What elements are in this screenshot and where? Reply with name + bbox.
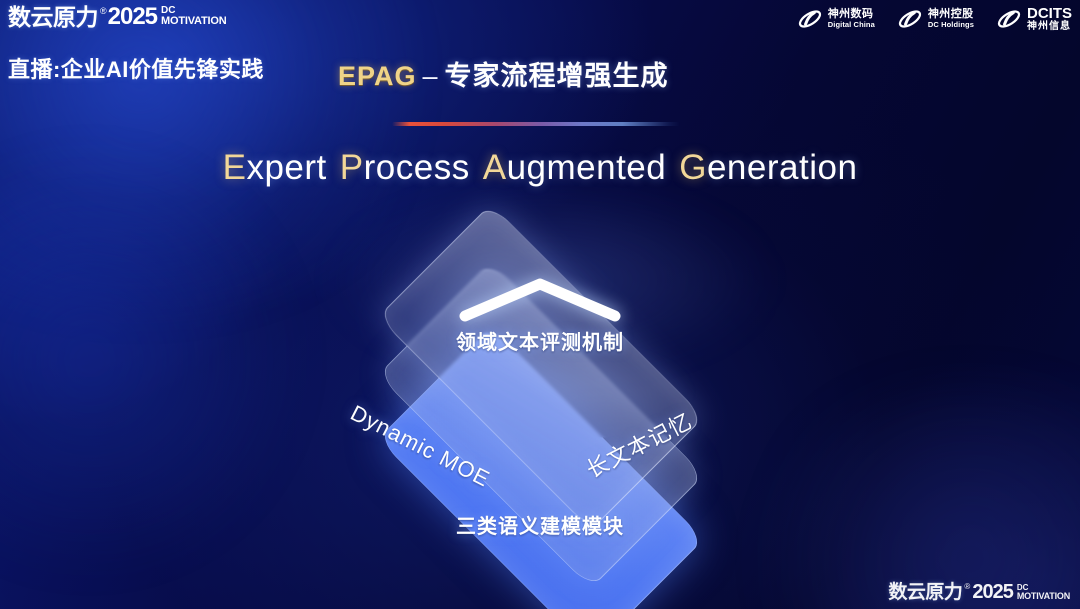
slide-canvas: 数云原力 ® 2025 DC MOTIVATION 直播:企业AI价值先锋实践 … <box>0 0 1080 609</box>
live-subtitle: 直播:企业AI价值先锋实践 <box>8 52 264 84</box>
hero-rest: ugmented <box>507 148 667 187</box>
hero-word-expert: Expert <box>223 148 327 187</box>
partner-name-en: DCITS <box>1027 6 1072 22</box>
layered-architecture-diagram: 领域文本评测机制 Dynamic MOE 长文本记忆 三类语义建模模块 <box>290 222 790 582</box>
brand-logo-registered: ® <box>100 5 107 17</box>
hero-rest: xpert <box>246 148 326 187</box>
background-glow-bottom-right <box>740 389 1080 609</box>
swirl-logo-icon <box>996 6 1022 32</box>
hero-rest: eneration <box>707 148 857 187</box>
hero-initial: A <box>483 148 507 187</box>
partner-logo-text: 神州数码 Digital China <box>828 9 875 28</box>
swirl-logo-icon <box>797 6 823 32</box>
watermark-dc-motivation: DC MOTIVATION <box>1017 584 1070 600</box>
hero-word-augmented: Augmented <box>483 148 667 187</box>
gradient-divider <box>392 122 680 126</box>
watermark-year: 2025 <box>972 582 1013 603</box>
chevron-up-icon <box>455 272 625 324</box>
hero-initial: G <box>679 148 707 187</box>
brand-logo: 数云原力 ® 2025 DC MOTIVATION <box>8 4 226 30</box>
brand-logo-dc-motivation: DC MOTIVATION <box>161 6 226 26</box>
watermark-motivation: MOTIVATION <box>1017 592 1070 600</box>
watermark-registered: ® <box>964 582 970 592</box>
hero-initial: E <box>223 148 247 187</box>
partner-logo-dc-holdings: 神州控股 DC Holdings <box>897 6 974 32</box>
brand-logo-cn: 数云原力 <box>8 4 98 30</box>
partner-logo-text: 神州控股 DC Holdings <box>928 9 974 28</box>
partner-name-en: Digital China <box>828 21 875 29</box>
footer-watermark: 数云原力 ® 2025 DC MOTIVATION <box>888 582 1070 603</box>
partner-name-en: DC Holdings <box>928 21 974 29</box>
brand-logo-year: 2025 <box>108 4 157 30</box>
hero-initial: P <box>340 148 364 187</box>
page-title-dash: – <box>423 61 439 91</box>
diagram-label-top: 领域文本评测机制 <box>290 326 790 355</box>
page-title: EPAG–专家流程增强生成 <box>338 54 669 93</box>
page-title-cn: 专家流程增强生成 <box>445 61 669 91</box>
hero-rest: rocess <box>364 148 470 187</box>
watermark-cn: 数云原力 <box>888 582 962 603</box>
background-glow-left <box>0 150 300 570</box>
swirl-logo-icon <box>897 6 923 32</box>
page-title-acronym: EPAG <box>338 61 417 91</box>
hero-word-process: Process <box>340 148 470 187</box>
partner-logo-digital-china: 神州数码 Digital China <box>797 6 875 32</box>
hero-headline: ExpertProcessAugmentedGeneration <box>0 148 1080 188</box>
partner-logo-group: 神州数码 Digital China 神州控股 DC Holdings <box>797 6 1072 32</box>
partner-logo-dcits: DCITS 神州信息 <box>996 6 1072 32</box>
brand-logo-motivation: MOTIVATION <box>161 16 226 26</box>
hero-word-generation: Generation <box>679 148 857 187</box>
partner-name-cn: 神州信息 <box>1027 22 1072 33</box>
diagram-label-bottom: 三类语义建模模块 <box>290 510 790 539</box>
partner-logo-text: DCITS 神州信息 <box>1027 6 1072 32</box>
